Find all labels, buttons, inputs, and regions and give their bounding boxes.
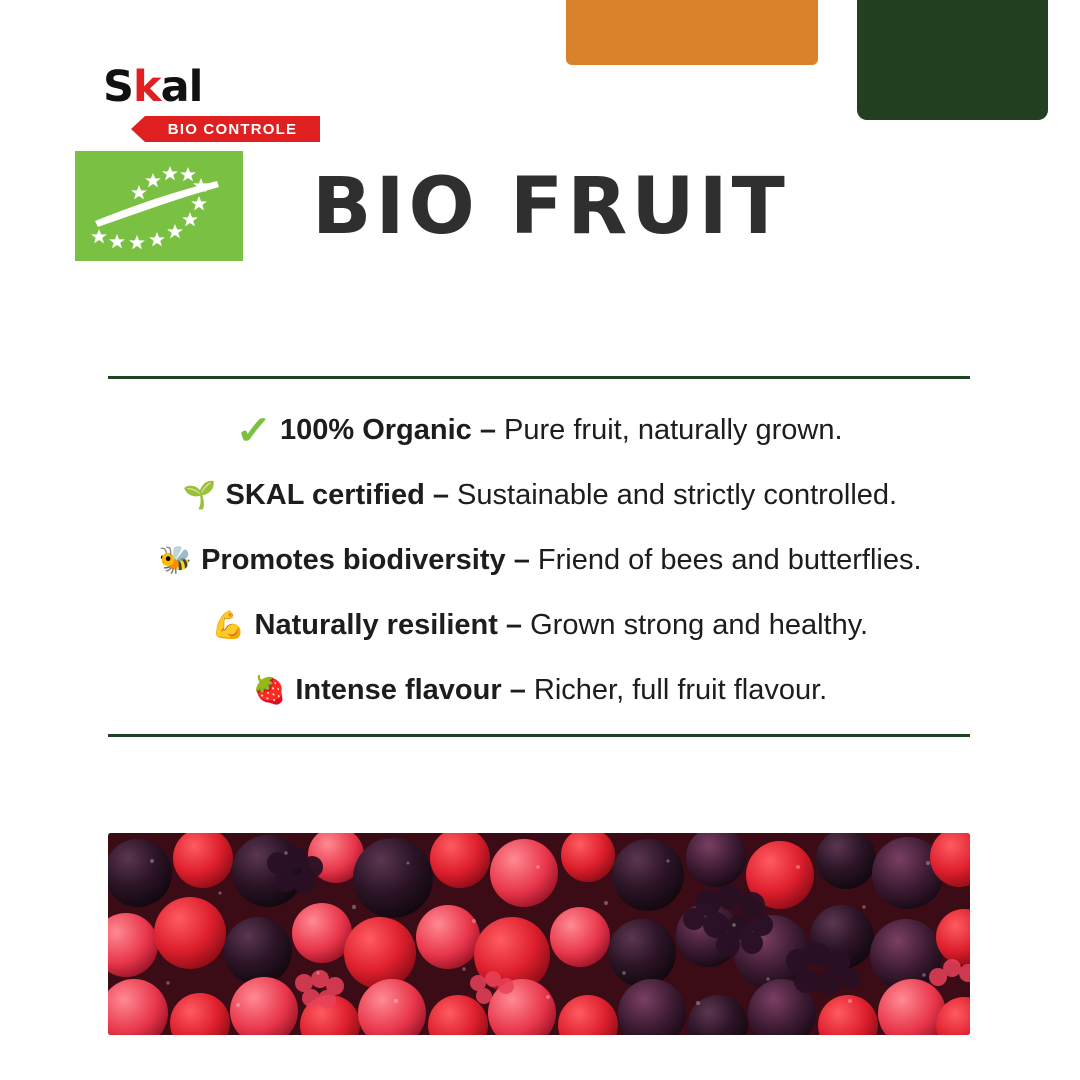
list-item-rest: Grown strong and healthy.	[530, 609, 868, 641]
skal-wordmark: Skal	[75, 66, 325, 109]
bio-controle-banner: BIO CONTROLE	[145, 116, 320, 142]
skal-wordmark-k: k	[133, 62, 161, 112]
list-item-rest: Friend of bees and butterflies.	[538, 544, 922, 576]
benefits-list: ✓ 100% Organic – Pure fruit, naturally g…	[0, 398, 1080, 723]
berries-photo	[108, 833, 970, 1035]
flexed-biceps-icon: 💪	[212, 612, 246, 639]
list-item-bold: Promotes biodiversity –	[201, 544, 538, 576]
bio-controle-banner-label: BIO CONTROLE	[168, 121, 297, 138]
eu-leaf-stars-icon	[75, 151, 243, 261]
list-item-text: Intense flavour – Richer, full fruit fla…	[295, 674, 827, 707]
berries-photo-illustration	[108, 833, 970, 1035]
top-decor-block-green	[857, 0, 1048, 120]
list-item-text: Promotes biodiversity – Friend of bees a…	[201, 544, 922, 577]
divider-bottom	[108, 734, 970, 737]
list-item-text: Naturally resilient – Grown strong and h…	[255, 609, 869, 642]
check-icon: ✓	[236, 411, 273, 451]
list-item: 🐝 Promotes biodiversity – Friend of bees…	[0, 528, 1080, 593]
list-item-rest: Pure fruit, naturally grown.	[504, 414, 842, 446]
list-item-text: 100% Organic – Pure fruit, naturally gro…	[280, 414, 843, 447]
list-item-bold: SKAL certified –	[226, 479, 458, 511]
top-decor-block-orange	[566, 0, 818, 65]
list-item: 🌱 SKAL certified – Sustainable and stric…	[0, 463, 1080, 528]
list-item-text: SKAL certified – Sustainable and strictl…	[226, 479, 898, 512]
list-item-bold: 100% Organic –	[280, 414, 504, 446]
list-item: ✓ 100% Organic – Pure fruit, naturally g…	[0, 398, 1080, 463]
skal-wordmark-suffix: al	[161, 62, 203, 112]
list-item-bold: Naturally resilient –	[255, 609, 531, 641]
skal-logo: Skal BIO CONTROLE	[75, 66, 325, 261]
list-item-bold: Intense flavour –	[295, 674, 534, 706]
list-item-rest: Sustainable and strictly controlled.	[457, 479, 897, 511]
bee-icon: 🐝	[158, 547, 192, 574]
list-item: 🍓 Intense flavour – Richer, full fruit f…	[0, 658, 1080, 723]
seedling-icon: 🌱	[183, 482, 217, 509]
strawberry-icon: 🍓	[253, 677, 287, 704]
divider-top	[108, 376, 970, 379]
eu-organic-leaf-logo	[75, 151, 243, 261]
list-item: 💪 Naturally resilient – Grown strong and…	[0, 593, 1080, 658]
page-title: BIO FRUIT	[312, 168, 789, 246]
list-item-rest: Richer, full fruit flavour.	[534, 674, 827, 706]
skal-wordmark-prefix: S	[103, 62, 133, 112]
